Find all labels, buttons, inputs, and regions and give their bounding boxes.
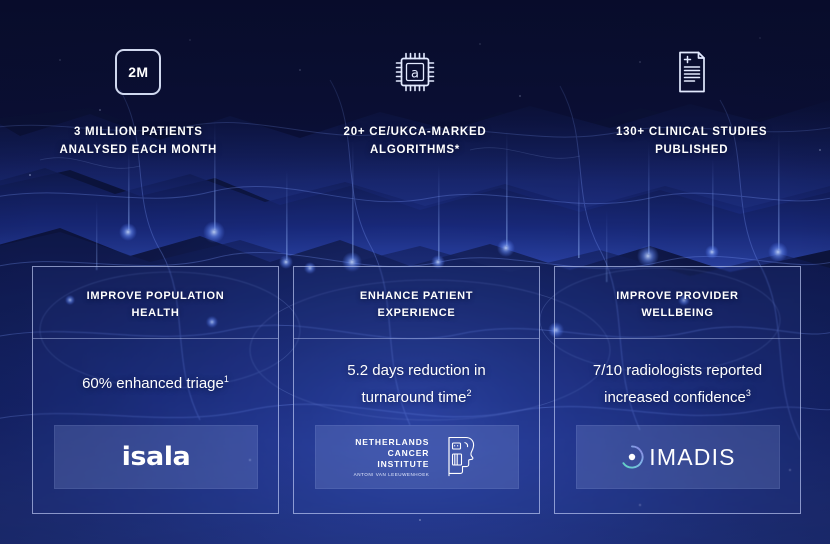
stat-label-line2: PUBLISHED [616, 142, 767, 160]
footnote-marker-3: 3 [746, 388, 751, 398]
card-stat-line1: 7/10 radiologists reported [593, 357, 762, 384]
isala-wordmark: isala [121, 442, 190, 472]
card-title-line2: EXPERIENCE [360, 305, 473, 322]
hero-section: 2M 3 MILLION PATIENTS ANALYSED EACH MONT… [0, 0, 830, 544]
stat-item-patients: 2M 3 MILLION PATIENTS ANALYSED EACH MONT… [0, 46, 277, 160]
cpu-chip-icon: a [390, 46, 440, 98]
benefit-cards-row: IMPROVE POPULATION HEALTH 60% enhanced t… [32, 266, 801, 514]
card-body: 60% enhanced triage1 [66, 339, 245, 425]
stats-row: 2M 3 MILLION PATIENTS ANALYSED EACH MONT… [0, 46, 830, 160]
footnote-marker-1: 1 [224, 374, 229, 384]
badge-2m-icon: 2M [115, 46, 161, 98]
card-statistic-text: 7/10 radiologists reported increased con… [593, 357, 762, 412]
card-title: IMPROVE POPULATION HEALTH [69, 288, 243, 321]
footnote-marker-2: 2 [467, 388, 472, 398]
nki-word-institute: INSTITUTE [377, 459, 429, 470]
card-title-line1: ENHANCE PATIENT [360, 288, 473, 305]
card-body: 5.2 days reduction in turnaround time2 [331, 339, 501, 425]
stat-label-line1: 20+ CE/UKCA-MARKED [344, 124, 487, 142]
stat-item-algorithms: a 20+ CE/UKCA-MARKED ALGORITHMS* [277, 46, 554, 160]
card-stat-line1: 5.2 days reduction in [347, 357, 485, 384]
stat-label-algorithms: 20+ CE/UKCA-MARKED ALGORITHMS* [344, 124, 487, 160]
card-title-line1: IMPROVE PROVIDER [616, 288, 738, 305]
card-stat-line2: turnaround time [361, 389, 466, 406]
badge-2m-label: 2M [128, 64, 148, 80]
card-title: ENHANCE PATIENT EXPERIENCE [342, 288, 491, 321]
stat-label-line2: ANALYSED EACH MONTH [60, 142, 218, 160]
card-statistic-text: 60% enhanced triage1 [82, 370, 229, 397]
card-title-line1: IMPROVE POPULATION [87, 288, 225, 305]
imadis-wordmark: IMADIS [649, 444, 735, 471]
stat-label-line1: 3 MILLION PATIENTS [60, 124, 218, 142]
card-improve-provider-wellbeing[interactable]: IMPROVE PROVIDER WELLBEING 7/10 radiolog… [554, 266, 801, 514]
card-improve-population-health[interactable]: IMPROVE POPULATION HEALTH 60% enhanced t… [32, 266, 279, 514]
nki-tagline: ANTONI VAN LEEUWENHOEK [354, 472, 430, 477]
stat-label-line2: ALGORITHMS* [344, 142, 487, 160]
isala-logo: isala [54, 425, 258, 489]
svg-text:a: a [411, 67, 419, 82]
nki-word-netherlands: NETHERLANDS [355, 437, 429, 448]
nki-word-cancer: CANCER [388, 448, 430, 459]
stat-label-patients: 3 MILLION PATIENTS ANALYSED EACH MONTH [60, 124, 218, 160]
card-enhance-patient-experience[interactable]: ENHANCE PATIENT EXPERIENCE 5.2 days redu… [293, 266, 540, 514]
imadis-swirl-mark [619, 444, 645, 470]
imadis-logo: IMADIS [576, 425, 780, 489]
stat-label-studies: 130+ CLINICAL STUDIES PUBLISHED [616, 124, 767, 160]
card-title: IMPROVE PROVIDER WELLBEING [598, 288, 756, 321]
card-stat-line2: increased confidence [604, 389, 746, 406]
nki-face-mark [435, 434, 479, 480]
card-title-line2: WELLBEING [616, 305, 738, 322]
stat-item-studies: 130+ CLINICAL STUDIES PUBLISHED [553, 46, 830, 160]
medical-document-icon [667, 46, 717, 98]
card-statistic-text: 5.2 days reduction in turnaround time2 [347, 357, 485, 412]
card-stat-line1: 60% enhanced triage [82, 375, 224, 392]
netherlands-cancer-institute-logo: NETHERLANDS CANCER INSTITUTE ANTONI VAN … [315, 425, 519, 489]
stat-label-line1: 130+ CLINICAL STUDIES [616, 124, 767, 142]
card-body: 7/10 radiologists reported increased con… [577, 339, 778, 425]
card-title-line2: HEALTH [87, 305, 225, 322]
